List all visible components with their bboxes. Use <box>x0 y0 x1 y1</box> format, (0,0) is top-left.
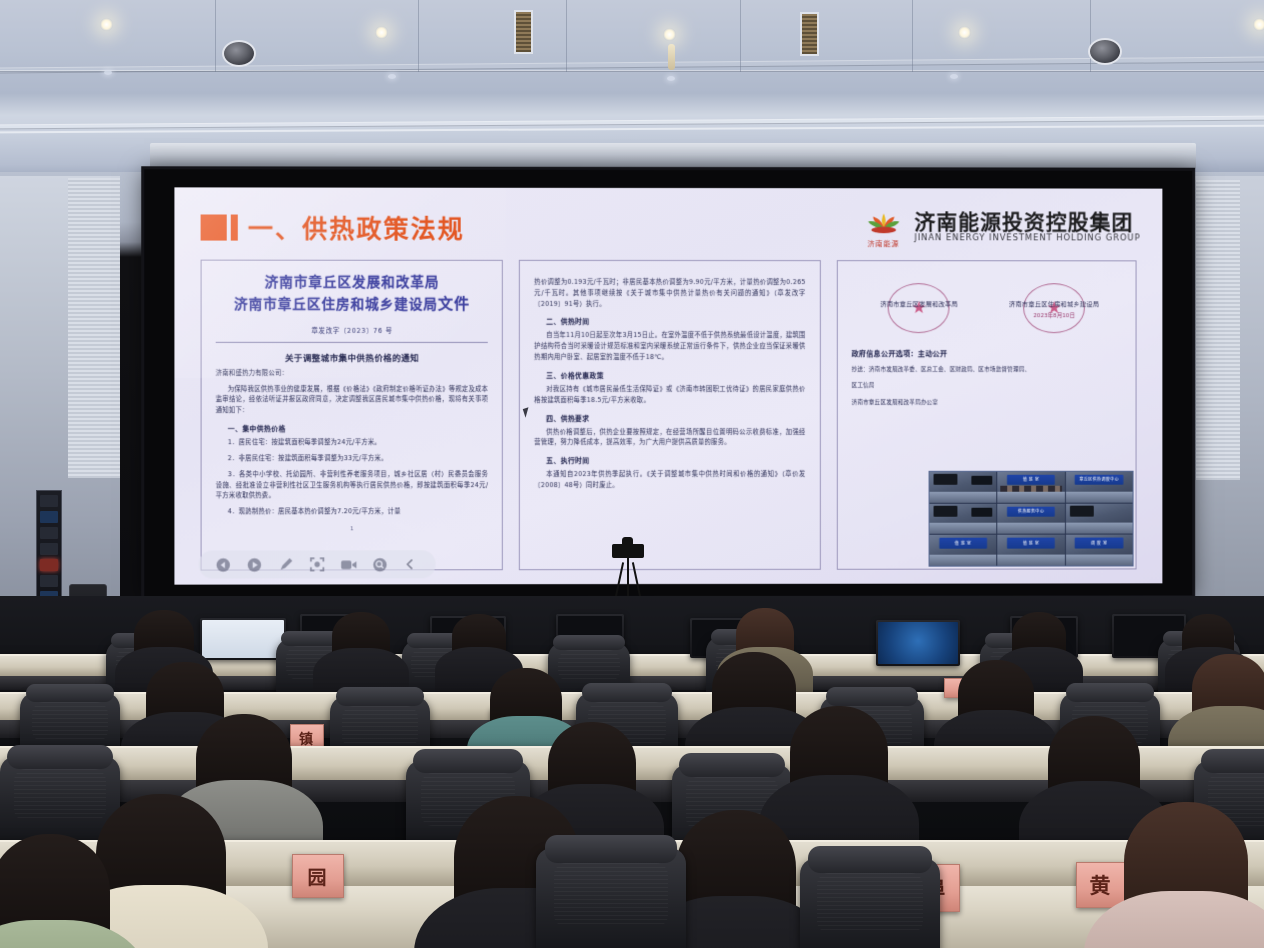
publicity-option: 政府信息公开选项：主动公开 <box>851 349 1121 359</box>
slide-accent-mark <box>201 214 238 240</box>
desktop-monitor <box>876 620 960 666</box>
seal-2-name: 济南市章丘区住房和城乡建设局 <box>990 299 1117 308</box>
ceiling-speaker <box>222 40 256 67</box>
wall-acoustic-panel <box>68 178 120 478</box>
company-logo: 济南能源 济南能源投资控股集团 JINAN ENERGY INVESTMENT … <box>860 210 1140 244</box>
doc-word: 文件 <box>438 295 470 313</box>
cc-line-3: 济南市章丘区发展和改革局办公室 <box>851 398 1121 408</box>
projector-screen-housing <box>150 143 1196 169</box>
seated-person <box>790 706 888 802</box>
document-panel-right: 济南市章丘区发展和改革局 济南市章丘区住房和城乡建设局 2023年8月10日 政… <box>836 260 1136 570</box>
seated-person <box>0 834 110 948</box>
logo-english-name: JINAN ENERGY INVESTMENT HOLDING GROUP <box>914 233 1140 243</box>
seated-person <box>548 722 636 808</box>
official-seals: 济南市章丘区发展和改革局 济南市章丘区住房和城乡建设局 2023年8月10日 <box>851 299 1121 319</box>
video-cell[interactable]: 章丘区供热调度中心 <box>1066 472 1133 503</box>
presentation-toolbar[interactable] <box>199 550 436 578</box>
addressee: 济南和盛热力有限公司： <box>216 369 488 380</box>
issuer-line-1: 济南市章丘区发展和改革局 <box>216 273 488 293</box>
video-cell[interactable]: 值 班 室 <box>930 535 997 566</box>
video-cell[interactable]: 供热服务中心 <box>998 503 1065 534</box>
video-cell-caption: 值 班 室 <box>1007 538 1055 548</box>
slide-title: 一、供热政策法规 <box>248 210 465 246</box>
section-1-item-1: 1．居民住宅：按建筑面积每季调整为24元/平方米。 <box>216 438 488 449</box>
seated-person <box>332 612 390 662</box>
ceiling-downlight <box>958 26 971 39</box>
seated-person <box>1192 654 1264 726</box>
desktop-monitor <box>200 618 286 660</box>
document-panel-left: 济南市章丘区发展和改革局 济南市章丘区住房和城乡建设局文件 章发改字〔2023〕… <box>201 260 504 571</box>
video-camera-icon <box>612 544 644 558</box>
section-1-item-4: 4．现熱制热价：居民基本热价调整为7.20元/平方米，计量 <box>216 507 488 518</box>
issuer-line-2: 济南市章丘区住房和城乡建设局文件 <box>216 293 488 316</box>
seal-unit-1: 济南市章丘区发展和改革局 <box>855 299 983 319</box>
seated-person <box>452 614 506 660</box>
office-chair <box>800 858 940 948</box>
section-3-body: 对我区持有《城市居民最低生活保障证》或《济南市转困职工优待证》的居民家庭供热价格… <box>534 385 805 407</box>
seated-person <box>490 668 562 734</box>
document-panels: 济南市章丘区发展和改革局 济南市章丘区住房和城乡建设局文件 章发改字〔2023〕… <box>201 260 1137 571</box>
document-number: 章发改字〔2023〕76 号 <box>216 325 488 335</box>
video-cell-caption: 章丘区供热调度中心 <box>1075 475 1123 485</box>
section-5-body: 本通知自2023年供热季起执行。《关于调整城市集中供热时间和价格的通知》（章价发… <box>534 470 805 492</box>
seated-person <box>134 610 194 662</box>
ceiling-pendant <box>668 44 675 70</box>
ceiling-downlight <box>663 28 676 41</box>
seated-person <box>1124 802 1248 926</box>
seated-person <box>96 794 226 920</box>
collapse-icon[interactable] <box>402 556 419 573</box>
divider <box>216 342 488 343</box>
logo-chinese-name: 济南能源投资控股集团 <box>914 211 1140 233</box>
issuer-block: 济南市章丘区发展和改革局 济南市章丘区住房和城乡建设局文件 <box>216 273 488 316</box>
video-cell-caption: 值 班 室 <box>939 538 987 548</box>
ceiling-vent <box>514 10 533 54</box>
cc-line-1: 抄送：济南市发展改革委、区总工会、区财政局、区市场监督管理局、 <box>851 365 1121 375</box>
name-placard-huang: 黄 <box>1076 862 1126 908</box>
section-3-heading: 三、价格优惠政策 <box>534 370 805 380</box>
camera-tripod <box>627 556 629 598</box>
seated-person <box>146 662 224 732</box>
magnifier-icon[interactable] <box>371 556 388 573</box>
video-cell-caption: 供热服务中心 <box>1007 506 1055 516</box>
video-conference-grid[interactable]: 值 班 室 章丘区供热调度中心 供热服务中心 值 班 室 值 班 室 调 度 室 <box>929 471 1134 567</box>
video-cell[interactable]: 值 班 室 <box>998 472 1065 503</box>
pen-icon[interactable] <box>277 556 294 573</box>
play-icon[interactable] <box>246 556 263 573</box>
seated-person <box>1012 612 1066 660</box>
ceiling-speaker <box>1088 38 1122 65</box>
audience-area: 镇 园 宁家埠 黄 <box>0 596 1264 948</box>
page-number: 1 <box>216 526 488 532</box>
video-cell[interactable]: 调 度 室 <box>1066 535 1133 566</box>
seated-person <box>196 714 292 806</box>
cc-line-2: 区工信局 <box>851 381 1121 391</box>
ceiling-vent <box>800 12 819 56</box>
seated-person <box>712 652 796 728</box>
ceiling-downlight <box>100 18 113 31</box>
section-4-heading: 四、供热要求 <box>534 413 805 423</box>
conference-room-scene: 一、供热政策法规 济南能源 济南能源投资控股集团 JIN <box>0 0 1264 948</box>
section-1-item-3: 3．各类中小学校、托幼园所、非营利性养老服务项目，城乡社区居（村）民委员会服务设… <box>216 470 488 503</box>
video-cell[interactable] <box>1066 503 1133 534</box>
section-5-heading: 五、执行时间 <box>534 455 805 465</box>
paragraph-1: 为保障我区供热事业的健康发展，根据《价格法》《政府制定价格听证办法》等规定及成本… <box>216 385 488 418</box>
document-panel-middle: 热价调整为0.193元/千瓦时；非居民基本热价调整为9.90元/平方米，计量热价… <box>519 260 820 570</box>
section-1-heading: 一、集中供热价格 <box>216 423 488 433</box>
name-placard-yuan: 园 <box>292 854 344 898</box>
lotus-icon: 济南能源 <box>860 210 906 244</box>
video-camera-icon[interactable] <box>340 556 357 573</box>
slide-header: 一、供热政策法规 <box>201 209 465 245</box>
focus-icon[interactable] <box>309 556 326 573</box>
seated-person <box>958 660 1034 730</box>
seated-person <box>1048 716 1140 806</box>
section-2-body: 自当年11月10日起至次年3月15日止。在室外温度不低于供热系统最低设计温度，建… <box>534 331 805 364</box>
section-1-item-2: 2．非居民住宅：按建筑面积每季调整为33元/平方米。 <box>216 454 488 465</box>
video-cell[interactable]: 值 班 室 <box>998 535 1065 566</box>
projection-screen[interactable]: 一、供热政策法规 济南能源 济南能源投资控股集团 JIN <box>144 169 1192 596</box>
seal-1-name: 济南市章丘区发展和改革局 <box>855 299 983 308</box>
section-2-heading: 二、供热时间 <box>534 316 805 326</box>
video-cell-caption: 值 班 室 <box>1007 475 1055 485</box>
ceiling-downlight <box>375 26 388 39</box>
continuation-paragraph: 热价调整为0.193元/千瓦时；非居民基本热价调整为9.90元/平方米，计量热价… <box>534 278 805 311</box>
seal-unit-2: 济南市章丘区住房和城乡建设局 2023年8月10日 <box>990 299 1117 319</box>
ceiling-downlight <box>1253 18 1264 31</box>
video-cell[interactable] <box>930 472 997 503</box>
office-chair <box>536 848 686 948</box>
video-cell-caption: 调 度 室 <box>1075 538 1123 548</box>
logo-badge-text: 济南能源 <box>860 239 906 249</box>
presentation-slide[interactable]: 一、供热政策法规 济南能源 济南能源投资控股集团 JIN <box>174 187 1162 584</box>
section-4-body: 供热价格调整后，供热企业要按照规定，在经营场所醒目位置明码公示收费标准，加强经营… <box>534 428 805 450</box>
document-title: 关于调整城市集中供热价格的通知 <box>216 352 488 364</box>
seated-person <box>676 810 796 930</box>
previous-icon[interactable] <box>215 556 232 573</box>
video-cell[interactable] <box>930 503 997 534</box>
wall-acoustic-panel <box>1196 180 1240 480</box>
